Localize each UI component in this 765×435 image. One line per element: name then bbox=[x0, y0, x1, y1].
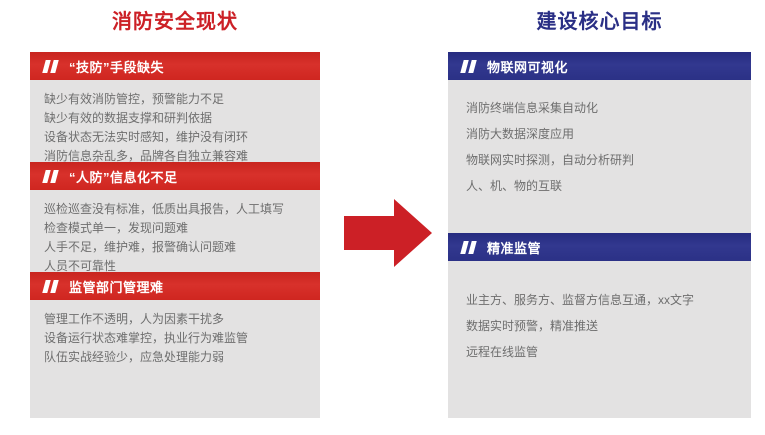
core-goals-panel: 物联网可视化 消防终端信息采集自动化 消防大数据深度应用 物联网实时探测，自动分… bbox=[448, 52, 751, 418]
section-heading-text: “技防”手段缺失 bbox=[69, 57, 164, 76]
double-slash-icon bbox=[43, 60, 60, 73]
body-line: 人、机、物的互联 bbox=[466, 173, 751, 199]
section-header-precise-supervision: 精准监管 bbox=[448, 233, 751, 261]
section-header-tech-defense: “技防”手段缺失 bbox=[30, 52, 320, 80]
body-line: 巡检巡查没有标准，低质出具报告，人工填写 bbox=[44, 200, 320, 219]
section-body-human-defense: 巡检巡查没有标准，低质出具报告，人工填写 检查模式单一，发现问题难 人手不足，维… bbox=[30, 190, 320, 272]
body-line: 消防终端信息采集自动化 bbox=[466, 95, 751, 121]
body-line: 人手不足，维护难，报警确认问题难 bbox=[44, 238, 320, 257]
body-line: 物联网实时探测，自动分析研判 bbox=[466, 147, 751, 173]
body-line: 设备状态无法实时感知，维护没有闭环 bbox=[44, 128, 320, 147]
body-line: 缺少有效的数据支撑和研判依据 bbox=[44, 109, 320, 128]
section-heading-text: 监管部门管理难 bbox=[69, 277, 164, 296]
section-heading-text: “人防”信息化不足 bbox=[69, 167, 178, 186]
body-line: 管理工作不透明，人为因素干扰多 bbox=[44, 310, 320, 329]
double-slash-icon bbox=[461, 241, 478, 254]
body-line: 缺少有效消防管控，预警能力不足 bbox=[44, 90, 320, 109]
section-body-iot-visualization: 消防终端信息采集自动化 消防大数据深度应用 物联网实时探测，自动分析研判 人、机… bbox=[448, 80, 751, 233]
section-header-human-defense: “人防”信息化不足 bbox=[30, 162, 320, 190]
body-line: 队伍实战经验少，应急处理能力弱 bbox=[44, 348, 320, 367]
double-slash-icon bbox=[43, 280, 60, 293]
right-column-title: 建设核心目标 bbox=[448, 9, 751, 35]
body-line: 消防大数据深度应用 bbox=[466, 121, 751, 147]
section-heading-text: 精准监管 bbox=[487, 238, 541, 257]
section-header-supervision: 监管部门管理难 bbox=[30, 272, 320, 300]
body-line: 数据实时预警，精准推送 bbox=[466, 313, 751, 339]
double-slash-icon bbox=[461, 60, 478, 73]
section-body-supervision: 管理工作不透明，人为因素干扰多 设备运行状态难掌控，执业行为难监管 队伍实战经验… bbox=[30, 300, 320, 394]
body-line: 业主方、服务方、监督方信息互通，xx文字 bbox=[466, 287, 751, 313]
section-body-tech-defense: 缺少有效消防管控，预警能力不足 缺少有效的数据支撑和研判依据 设备状态无法实时感… bbox=[30, 80, 320, 162]
right-arrow-icon bbox=[344, 199, 432, 267]
section-body-precise-supervision: 业主方、服务方、监督方信息互通，xx文字 数据实时预警，精准推送 远程在线监管 bbox=[448, 261, 751, 375]
section-heading-text: 物联网可视化 bbox=[487, 57, 568, 76]
body-line: 远程在线监管 bbox=[466, 339, 751, 365]
body-line: 设备运行状态难掌控，执业行为难监管 bbox=[44, 329, 320, 348]
double-slash-icon bbox=[43, 170, 60, 183]
section-header-iot-visualization: 物联网可视化 bbox=[448, 52, 751, 80]
left-column-title: 消防安全现状 bbox=[30, 9, 320, 35]
current-situation-panel: “技防”手段缺失 缺少有效消防管控，预警能力不足 缺少有效的数据支撑和研判依据 … bbox=[30, 52, 320, 418]
body-line: 检查模式单一，发现问题难 bbox=[44, 219, 320, 238]
